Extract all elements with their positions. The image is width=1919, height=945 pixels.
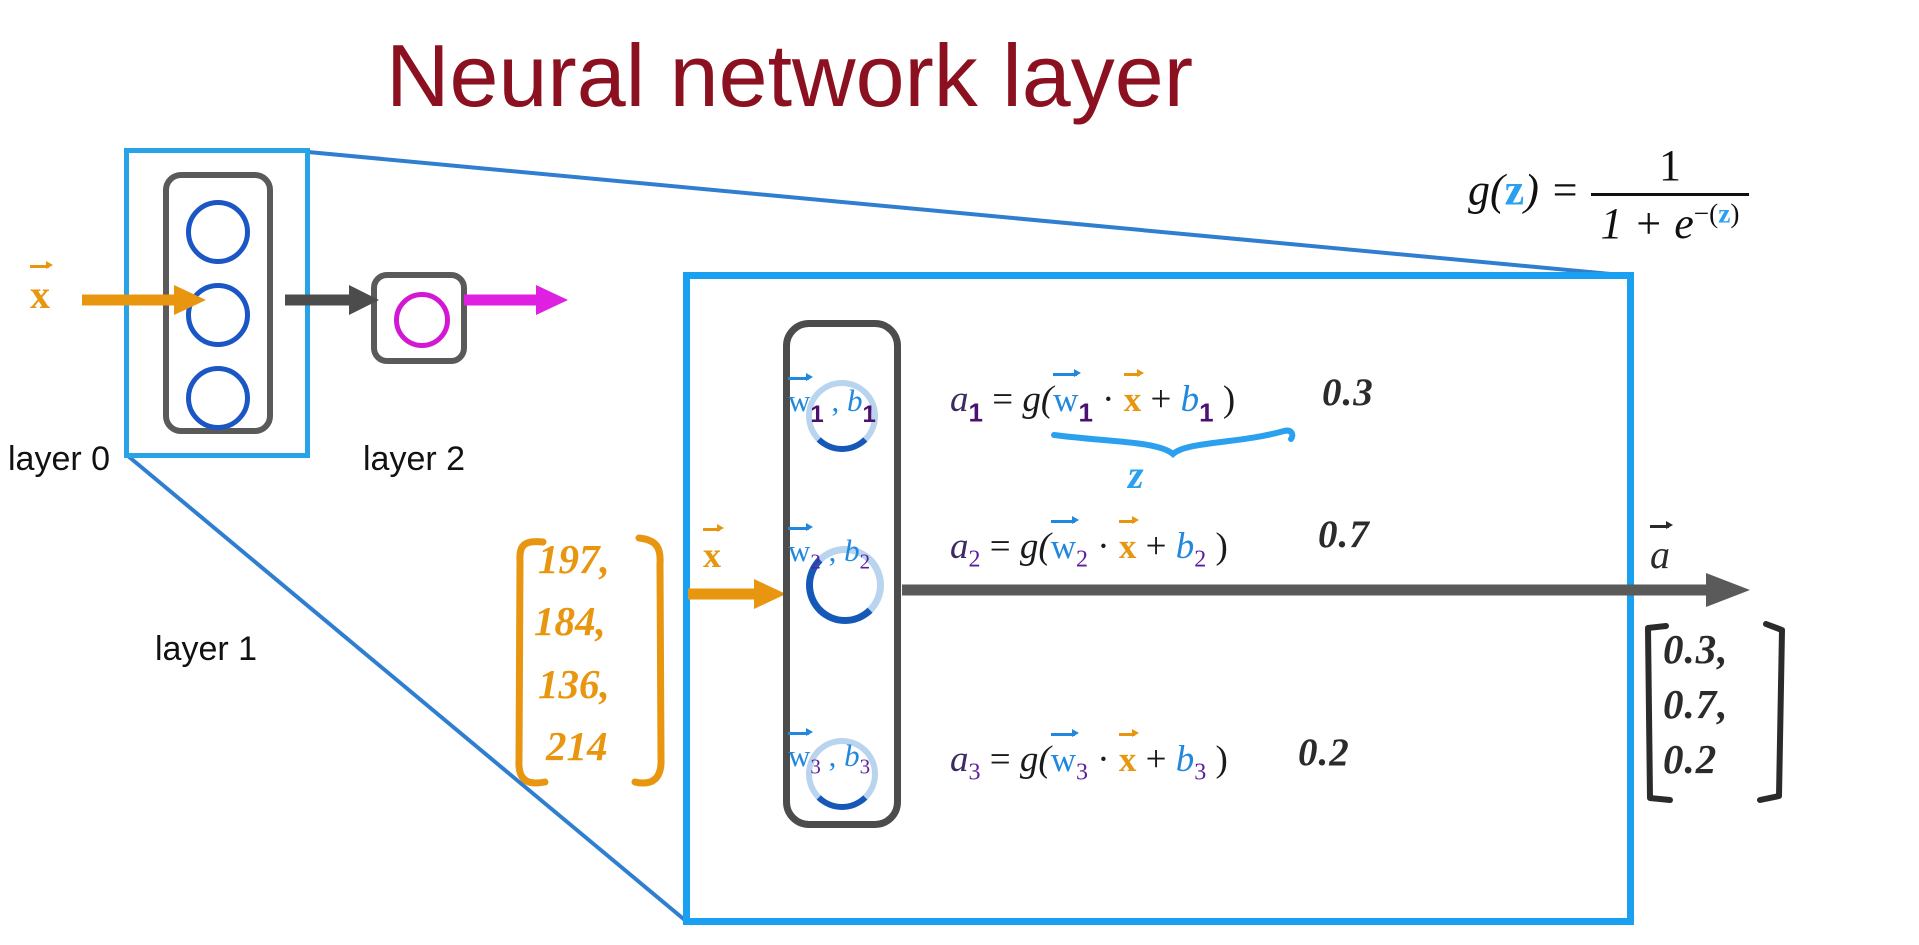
eq2-w-symbol: w	[1051, 529, 1076, 564]
eq1-plus: +	[1141, 379, 1180, 420]
eq2-b: b	[1176, 526, 1195, 567]
input-vector-value-4: 214	[546, 722, 608, 770]
sigmoid-g: g(	[1468, 166, 1505, 215]
neuron-3-b-symbol: b	[844, 738, 860, 773]
input-arrow-orange	[80, 275, 210, 325]
eq1-close: )	[1214, 379, 1236, 420]
connector-line-top	[308, 152, 1632, 276]
equation-row-3: a3 = g(w3 · x + b3 )	[950, 738, 1228, 786]
eq1-g: g(	[1022, 379, 1053, 420]
layer1-node-1	[186, 200, 250, 264]
eq3-plus: +	[1136, 739, 1175, 780]
input-vector-value-2: 184,	[534, 597, 606, 645]
eq1-dot: ·	[1093, 379, 1124, 420]
eq2-close: )	[1206, 526, 1228, 567]
eq3-w-sub: 3	[1076, 759, 1088, 785]
neuron-2-comma: ,	[821, 533, 844, 568]
layer1-label: layer 1	[155, 630, 257, 669]
neuron-2-params: w2 , b2	[788, 533, 870, 574]
eq3-close: )	[1206, 739, 1228, 780]
zoom-x-vector-letter: x	[703, 535, 721, 575]
eq3-dot: ·	[1088, 739, 1119, 780]
eq2-plus: +	[1136, 526, 1175, 567]
output-vector-value-2: 0.7,	[1663, 680, 1729, 728]
eq2-a: a	[950, 526, 969, 567]
output-vector-value-1: 0.3,	[1663, 625, 1729, 673]
input-vector-value-3: 136,	[538, 660, 610, 708]
zoom-input-arrow-orange	[686, 570, 796, 618]
eq1-x-symbol: x	[1124, 382, 1142, 417]
neuron-2-b-symbol: b	[844, 533, 860, 568]
eq3-b: b	[1176, 739, 1195, 780]
sigmoid-den-exp-minus: −(	[1694, 198, 1718, 228]
layer1-to-layer2-arrow	[283, 275, 383, 325]
neuron-2-w-symbol: w	[788, 535, 810, 566]
eq1-b-sub: 1	[1199, 397, 1213, 427]
neuron-3-w-symbol: w	[788, 740, 810, 771]
eq2-g: g(	[1020, 526, 1051, 567]
neuron-1-params: w1 , b1	[788, 383, 876, 429]
eq3-b-sub: 3	[1194, 759, 1206, 785]
eq3-x-symbol: x	[1119, 742, 1137, 777]
eq1-equals: =	[983, 379, 1022, 420]
sigmoid-denominator: 1 + e−(z)	[1591, 193, 1750, 249]
output-vector-a-label: a	[1650, 535, 1670, 575]
eq3-equals: =	[981, 739, 1020, 780]
neuron-3-comma: ,	[821, 738, 844, 773]
layer1-node-3	[186, 366, 250, 430]
layer2-output-arrow	[462, 275, 572, 325]
a-vector-letter: a	[1650, 532, 1670, 577]
neuron-1-comma: ,	[824, 383, 847, 418]
sigmoid-den-base: 1 + e	[1601, 199, 1694, 248]
activation-output-1: 0.3	[1322, 370, 1374, 415]
page-title: Neural network layer	[0, 32, 1919, 120]
neuron-1-b-symbol: b	[847, 383, 863, 418]
eq3-a: a	[950, 739, 969, 780]
neuron-1-w-sub: 1	[810, 401, 823, 428]
eq1-a-sub: 1	[969, 397, 983, 427]
eq2-x-symbol: x	[1119, 529, 1137, 564]
zoom-x-vector-symbol: x	[703, 537, 721, 573]
eq3-g: g(	[1020, 739, 1051, 780]
x-vector-letter: x	[30, 272, 50, 317]
sigmoid-equals: ) =	[1524, 166, 1579, 215]
neuron-3-w-sub: 3	[810, 754, 821, 778]
eq1-a: a	[950, 379, 969, 420]
sigmoid-z-arg: z	[1505, 166, 1525, 215]
eq2-equals: =	[981, 526, 1020, 567]
eq2-dot: ·	[1088, 526, 1119, 567]
slide-canvas: Neural network layer g(z) = 1 1 + e−(z) …	[0, 0, 1919, 945]
output-arrow-a	[900, 565, 1760, 615]
eq1-b: b	[1181, 379, 1200, 420]
sigmoid-numerator: 1	[1591, 140, 1750, 193]
input-vector-x-label: x	[30, 275, 50, 315]
neuron-3-params: w3 , b3	[788, 738, 870, 779]
a-vector-symbol: a	[1650, 535, 1670, 575]
z-brace-label: z	[1128, 451, 1144, 498]
neuron-1-b-sub: 1	[863, 401, 876, 428]
input-vector-value-1: 197,	[538, 535, 610, 583]
activation-output-3: 0.2	[1298, 730, 1350, 775]
equation-row-1: a1 = g(w1 · x + b1 )	[950, 378, 1235, 428]
neuron-2-b-sub: 2	[860, 549, 871, 573]
x-vector-symbol: x	[30, 275, 50, 315]
sigmoid-fraction: 1 1 + e−(z)	[1591, 140, 1750, 249]
neuron-1-w-symbol: w	[788, 385, 810, 416]
eq3-a-sub: 3	[969, 759, 981, 785]
sigmoid-formula: g(z) = 1 1 + e−(z)	[1468, 140, 1749, 249]
page-title-text: Neural network layer	[386, 32, 1193, 120]
layer2-node-1	[394, 292, 450, 348]
eq1-w-symbol: w	[1053, 382, 1078, 417]
activation-output-2: 0.7	[1318, 512, 1370, 557]
output-vector-value-3: 0.2	[1663, 735, 1717, 783]
eq3-w-symbol: w	[1051, 742, 1076, 777]
layer0-label: layer 0	[8, 440, 110, 479]
layer2-label: layer 2	[363, 440, 465, 479]
zoom-input-vector-x-label: x	[703, 537, 721, 573]
sigmoid-den-exp-close: )	[1730, 198, 1739, 228]
sigmoid-den-exp-z: z	[1718, 198, 1730, 228]
neuron-2-w-sub: 2	[810, 549, 821, 573]
z-underbrace	[1048, 425, 1298, 473]
eq1-w-sub: 1	[1078, 397, 1092, 427]
neuron-3-b-sub: 3	[860, 754, 871, 778]
